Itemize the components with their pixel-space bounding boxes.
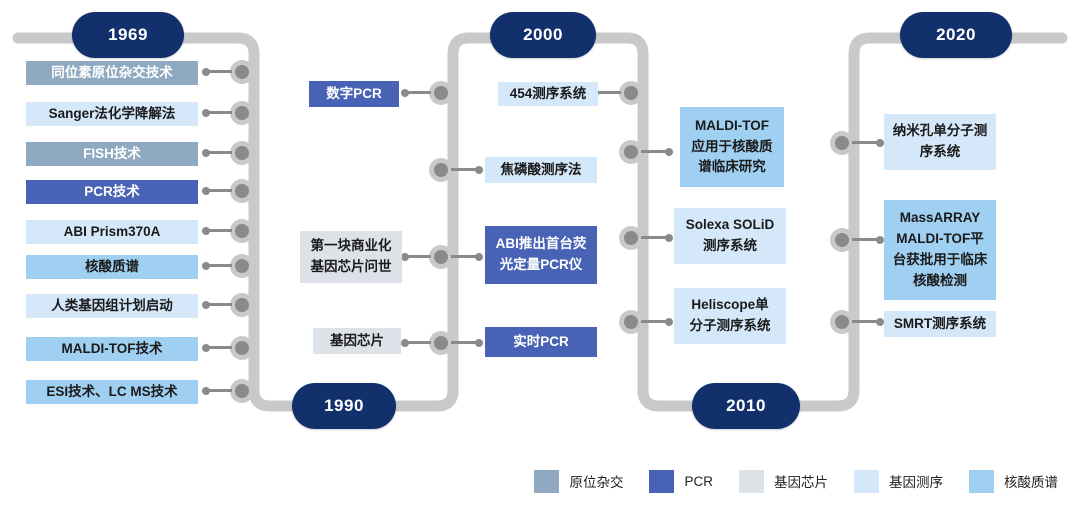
- event-box-isotope-ish[interactable]: 同位素原位杂交技术: [26, 61, 198, 85]
- event-box-smrt[interactable]: SMRT测序系统: [884, 311, 996, 337]
- event-box-sanger[interactable]: Sanger法化学降解法: [26, 102, 198, 126]
- connector-dot-c1-4: [202, 187, 210, 195]
- connector-dot-c1-6: [202, 262, 210, 270]
- event-box-abi-prism370a[interactable]: ABI Prism370A: [26, 220, 198, 244]
- connector-c3-2-right: [641, 150, 667, 153]
- event-box-454-sequencing[interactable]: 454测序系统: [498, 82, 598, 106]
- connector-c3-4-right: [641, 320, 667, 323]
- node-c3-4: [619, 310, 643, 334]
- connector-c2-2-right: [451, 168, 477, 171]
- legend-swatch-in-situ-hybridization: [534, 470, 559, 493]
- event-box-abi-first-qpcr[interactable]: ABI推出首台荧 光定量PCR仪: [485, 226, 597, 284]
- legend-swatch-gene-sequencing: [854, 470, 879, 493]
- node-c1-4: [230, 179, 254, 203]
- connector-dot-c3-3-right: [665, 234, 673, 242]
- event-box-maldi-tof-clinical[interactable]: MALDI-TOF 应用于核酸质 谱临床研究: [680, 107, 784, 187]
- connector-dot-c1-2: [202, 109, 210, 117]
- legend-item-gene-chip[interactable]: 基因芯片: [739, 470, 828, 493]
- node-c1-1: [230, 60, 254, 84]
- event-box-digital-pcr[interactable]: 数字PCR: [309, 81, 399, 107]
- event-box-solexa-solid[interactable]: Solexa SOLiD 测序系统: [674, 208, 786, 264]
- connector-dot-c2-4-right: [475, 339, 483, 347]
- legend-item-pcr[interactable]: PCR: [649, 470, 713, 493]
- connector-dot-c2-4-left: [401, 339, 409, 347]
- node-c1-2: [230, 101, 254, 125]
- year-pill-1990[interactable]: 1990: [292, 383, 396, 429]
- node-c1-7: [230, 293, 254, 317]
- connector-dot-c1-1: [202, 68, 210, 76]
- connector-c2-3-right: [451, 255, 477, 258]
- connector-c3-3-right: [641, 236, 667, 239]
- event-box-realtime-pcr[interactable]: 实时PCR: [485, 327, 597, 357]
- node-c2-2: [429, 158, 453, 182]
- node-c1-5: [230, 219, 254, 243]
- connector-c4-3-right: [852, 320, 878, 323]
- legend-item-gene-sequencing[interactable]: 基因测序: [854, 470, 943, 493]
- node-c1-8: [230, 336, 254, 360]
- legend-label-gene-sequencing: 基因测序: [889, 471, 943, 491]
- connector-c2-4-right: [451, 341, 477, 344]
- connector-dot-c4-2-right: [876, 236, 884, 244]
- node-c3-1: [619, 81, 643, 105]
- legend-swatch-nucleic-acid-ms: [969, 470, 994, 493]
- connector-c4-2-right: [852, 238, 878, 241]
- connector-dot-c2-3-left: [401, 253, 409, 261]
- event-box-nucleic-acid-ms[interactable]: 核酸质谱: [26, 255, 198, 279]
- legend-swatch-gene-chip: [739, 470, 764, 493]
- event-box-pyrosequencing[interactable]: 焦磷酸测序法: [485, 157, 597, 183]
- legend-label-pcr: PCR: [684, 474, 713, 489]
- node-c2-1: [429, 81, 453, 105]
- connector-dot-c1-5: [202, 227, 210, 235]
- year-pill-1969[interactable]: 1969: [72, 12, 184, 58]
- event-box-first-commercial-chip[interactable]: 第一块商业化 基因芯片问世: [300, 231, 402, 283]
- node-c4-3: [830, 310, 854, 334]
- legend-label-nucleic-acid-ms: 核酸质谱: [1004, 471, 1058, 491]
- node-c3-2: [619, 140, 643, 164]
- node-c2-4: [429, 331, 453, 355]
- legend-item-in-situ-hybridization[interactable]: 原位杂交: [534, 470, 623, 493]
- event-box-massarray[interactable]: MassARRAY MALDI-TOF平 台获批用于临床 核酸检测: [884, 200, 996, 300]
- connector-dot-c1-3: [202, 149, 210, 157]
- event-box-fish[interactable]: FISH技术: [26, 142, 198, 166]
- event-box-nanopore[interactable]: 纳米孔单分子测 序系统: [884, 114, 996, 170]
- year-pill-2010[interactable]: 2010: [692, 383, 800, 429]
- event-box-pcr[interactable]: PCR技术: [26, 180, 198, 204]
- legend-label-gene-chip: 基因芯片: [774, 471, 828, 491]
- node-c4-2: [830, 228, 854, 252]
- legend-label-in-situ-hybridization: 原位杂交: [569, 471, 623, 491]
- connector-dot-c1-8: [202, 344, 210, 352]
- event-box-heliscope[interactable]: Heliscope单 分子测序系统: [674, 288, 786, 344]
- year-pill-2000[interactable]: 2000: [490, 12, 596, 58]
- legend: 原位杂交 PCR 基因芯片 基因测序 核酸质谱: [0, 462, 1080, 500]
- node-c2-3: [429, 245, 453, 269]
- node-c1-6: [230, 254, 254, 278]
- node-c1-3: [230, 141, 254, 165]
- year-pill-2020[interactable]: 2020: [900, 12, 1012, 58]
- connector-dot-c1-9: [202, 387, 210, 395]
- event-box-gene-chip[interactable]: 基因芯片: [313, 328, 401, 354]
- connector-dot-c2-3-right: [475, 253, 483, 261]
- event-box-maldi-tof-tech[interactable]: MALDI-TOF技术: [26, 337, 198, 361]
- event-box-hgp-start[interactable]: 人类基因组计划启动: [26, 294, 198, 318]
- connector-dot-c2-1-left: [401, 89, 409, 97]
- event-box-esi-lcms[interactable]: ESI技术、LC MS技术: [26, 380, 198, 404]
- connector-dot-c1-7: [202, 301, 210, 309]
- node-c3-3: [619, 226, 643, 250]
- node-c4-1: [830, 131, 854, 155]
- connector-dot-c3-4-right: [665, 318, 673, 326]
- legend-item-nucleic-acid-ms[interactable]: 核酸质谱: [969, 470, 1058, 493]
- node-c1-9: [230, 379, 254, 403]
- connector-dot-c4-3-right: [876, 318, 884, 326]
- timeline-diagram: 1969 1990 2000 2010 2020 同位素原位杂交技术 Sange…: [0, 0, 1080, 507]
- connector-dot-c3-2-right: [665, 148, 673, 156]
- connector-c4-1-right: [852, 141, 878, 144]
- connector-dot-c4-1-right: [876, 139, 884, 147]
- legend-swatch-pcr: [649, 470, 674, 493]
- connector-dot-c2-2-right: [475, 166, 483, 174]
